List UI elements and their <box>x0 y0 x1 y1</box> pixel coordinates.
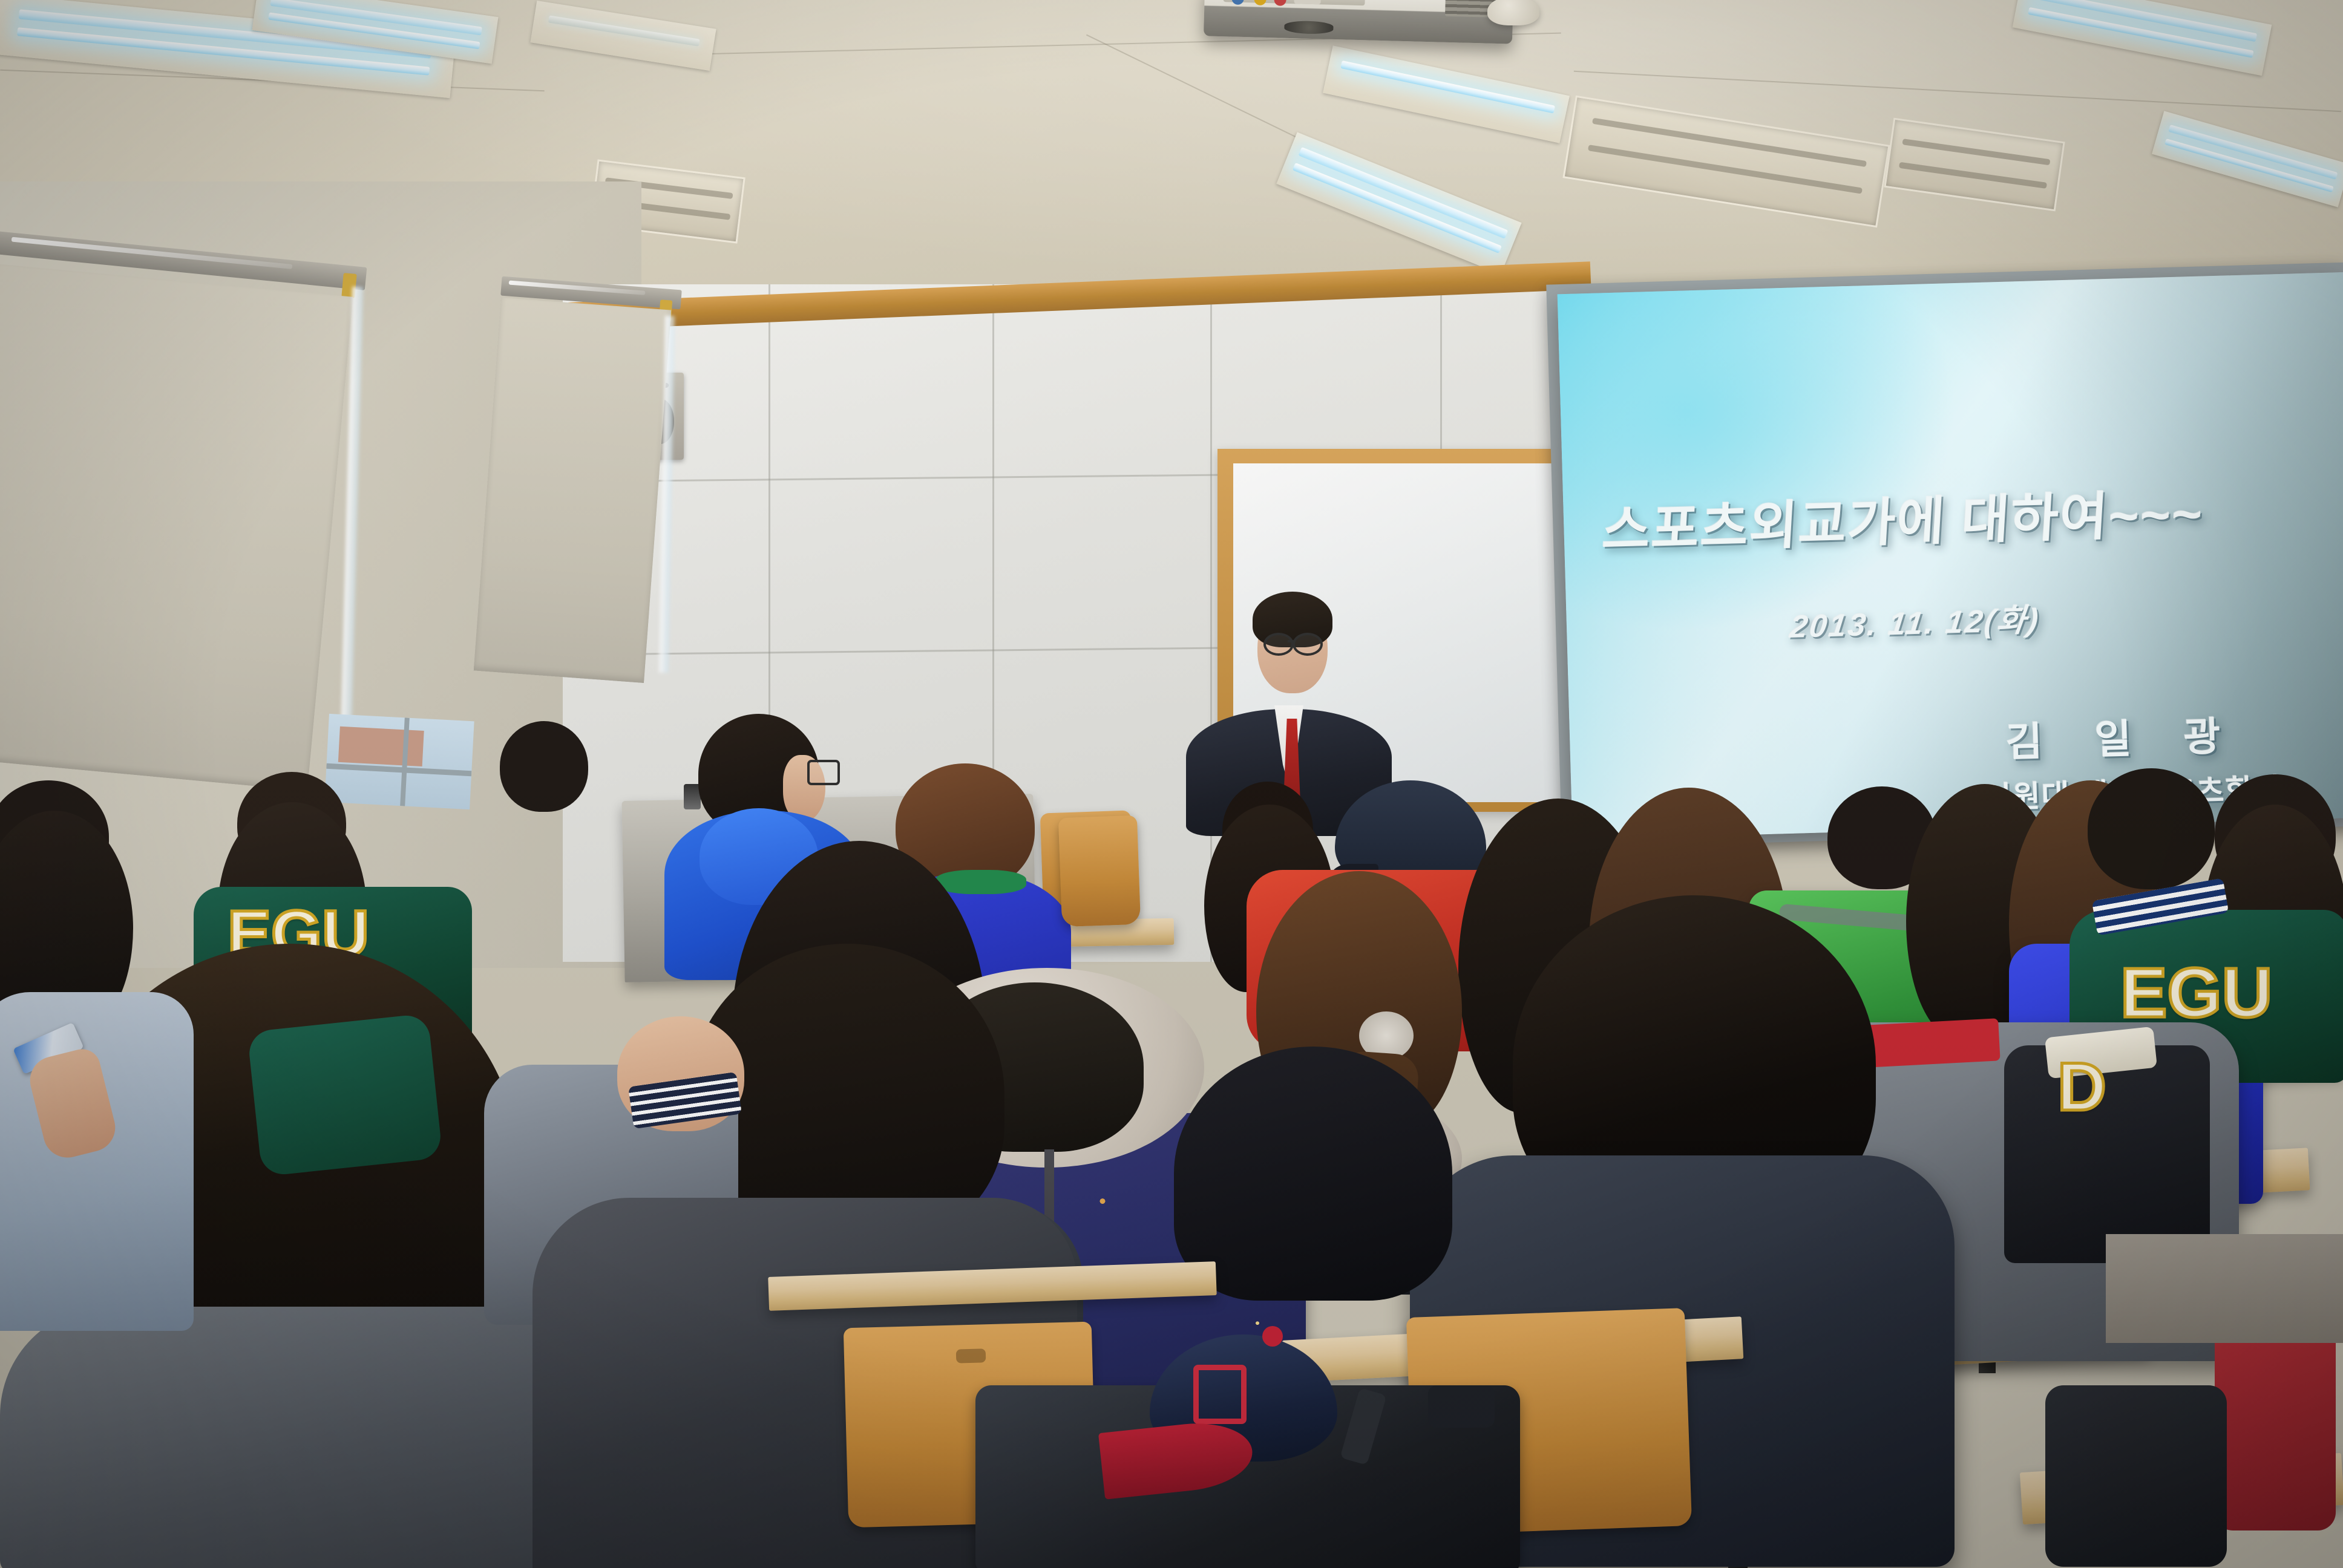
varsity-sleeve <box>247 1013 442 1177</box>
window-pane <box>324 714 474 809</box>
slide-date: 2013. 11. 12(화) <box>1788 594 2043 647</box>
projection-screen: 스포츠외교가에 대하여~~~ 2013. 11. 12(화) 김 일 광 (서원… <box>1558 272 2343 840</box>
smoke-detector-icon <box>1487 0 1539 25</box>
roller-blind-right[interactable] <box>474 298 672 683</box>
black-varsity-jacket: D <box>2004 1021 2210 1263</box>
glasses-bridge <box>1288 640 1294 642</box>
chair-back[interactable] <box>1058 815 1141 927</box>
glasses-icon <box>1263 633 1294 656</box>
roller-blind-left[interactable] <box>0 264 353 791</box>
slide-presenter-name: 김 일 광 <box>2005 704 2241 768</box>
audience-head <box>2088 768 2215 889</box>
audience-head <box>1174 1047 1452 1301</box>
audience-head <box>500 721 588 812</box>
floor <box>2106 1234 2343 1343</box>
glasses-icon <box>807 760 840 785</box>
backpack-buckle <box>1428 1385 1495 1428</box>
cap-logo <box>1193 1365 1247 1424</box>
slide-title: 스포츠외교가에 대하여~~~ <box>1601 471 2206 564</box>
baseball-cap[interactable] <box>1126 1334 1362 1492</box>
varsity-letter: D <box>2057 1048 2106 1126</box>
glasses-icon <box>1293 633 1323 656</box>
dark-bag <box>2045 1385 2227 1567</box>
cap-button <box>1262 1326 1283 1347</box>
lecture-hall-photo: 스포츠외교가에 대하여~~~ 2013. 11. 12(화) 김 일 광 (서원… <box>0 0 2343 1568</box>
